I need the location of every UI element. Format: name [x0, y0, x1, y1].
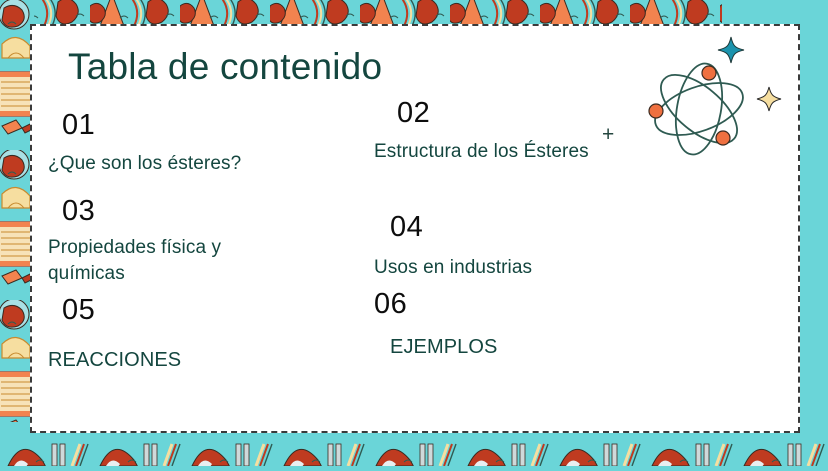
toc-number-06: 06	[374, 290, 407, 319]
decorative-pattern-left	[0, 0, 34, 466]
toc-label-05[interactable]: REACCIONES	[48, 347, 348, 374]
toc-number-04: 04	[390, 213, 423, 242]
sparkle-icon	[756, 86, 782, 112]
atom-icon	[644, 54, 754, 164]
plus-icon: +	[602, 124, 614, 145]
sparkle-icon	[717, 36, 745, 64]
decorative-pattern-top	[0, 0, 722, 26]
content-card: Tabla de contenido 01 ¿Que son los éster…	[30, 24, 800, 433]
toc-label-06[interactable]: EJEMPLOS	[390, 334, 690, 361]
toc-number-05: 05	[62, 296, 95, 325]
toc-number-03: 03	[62, 197, 95, 226]
toc-number-01: 01	[62, 111, 95, 140]
page-title: Tabla de contenido	[68, 46, 382, 88]
toc-label-04[interactable]: Usos en industrias	[374, 255, 654, 281]
toc-label-01[interactable]: ¿Que son los ésteres?	[48, 151, 348, 177]
toc-label-02[interactable]: Estructura de los Ésteres	[374, 139, 589, 165]
toc-label-03[interactable]: Propiedades física y químicas	[48, 235, 298, 286]
toc-number-02: 02	[397, 99, 430, 128]
